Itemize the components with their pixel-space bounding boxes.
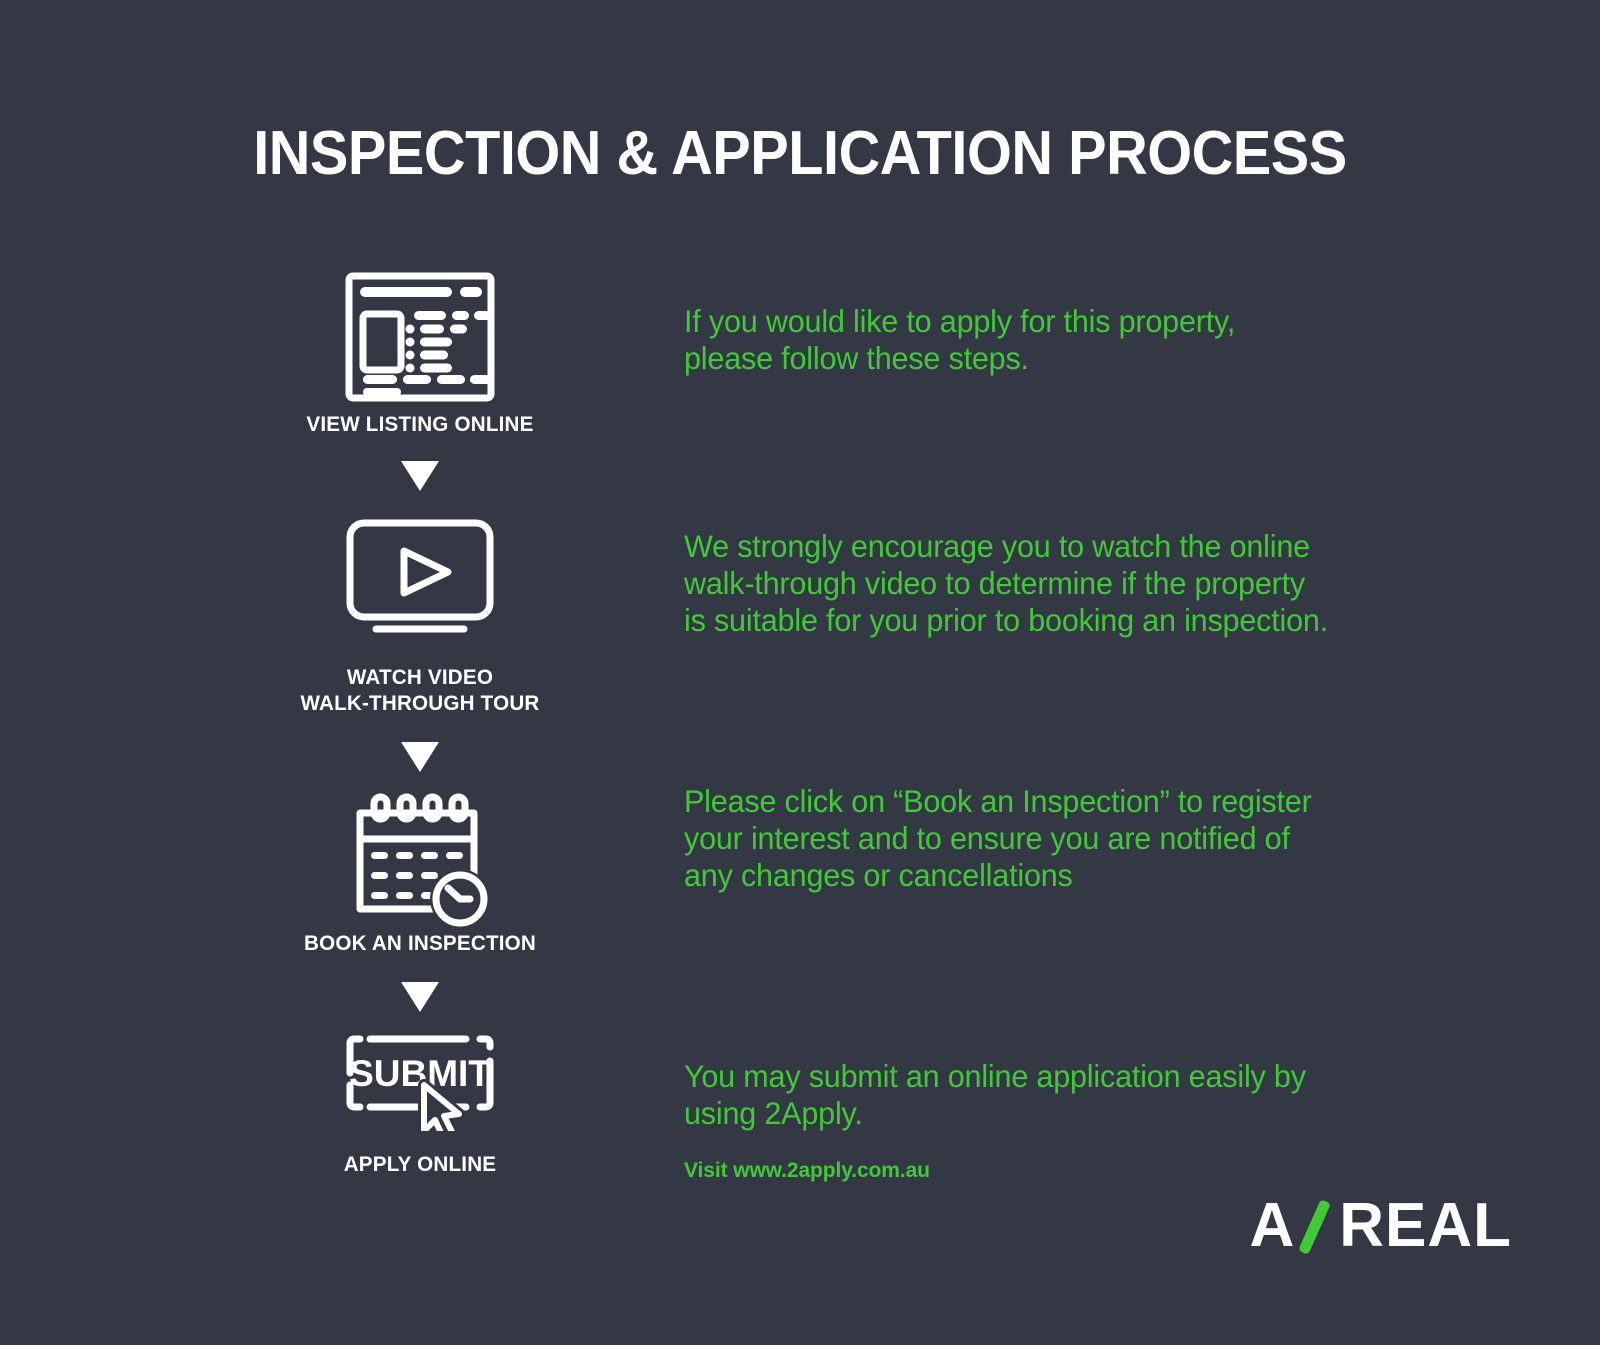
- visit-website-link[interactable]: Visit www.2apply.com.au: [684, 1159, 930, 1183]
- flow-arrow-down-icon: [270, 742, 570, 772]
- step-watch-video-walkthrough: WATCH VIDEO WALK-THROUGH TOUR: [270, 503, 570, 716]
- step-label: VIEW LISTING ONLINE: [276, 412, 564, 437]
- page-title: INSPECTION & APPLICATION PROCESS: [56, 118, 1544, 189]
- infographic-page: INSPECTION & APPLICATION PROCESS: [0, 0, 1600, 1345]
- step-book-an-inspection: BOOK AN INSPECTION: [270, 786, 570, 956]
- steps-flow: VIEW LISTING ONLINE WATCH VIDEO WALK-THR…: [270, 262, 570, 1178]
- copy-video: We strongly encourage you to watch the o…: [684, 528, 1402, 639]
- submit-button-cursor-icon: SUBMIT: [270, 1026, 570, 1134]
- step-label: APPLY ONLINE: [276, 1152, 564, 1177]
- copy-inspection: Please click on “Book an Inspection” to …: [684, 783, 1402, 894]
- flow-arrow-down-icon: [270, 461, 570, 491]
- step-label: WATCH VIDEO WALK-THROUGH TOUR: [276, 665, 564, 716]
- step-label: BOOK AN INSPECTION: [276, 931, 564, 956]
- calendar-clock-icon: [270, 786, 570, 931]
- copy-apply: You may submit an online application eas…: [684, 1058, 1402, 1132]
- listing-window-icon: [270, 262, 570, 412]
- step-view-listing-online: VIEW LISTING ONLINE: [270, 262, 570, 437]
- logo-letter-a: A: [1249, 1195, 1295, 1257]
- step-apply-online: SUBMIT APPLY ONLINE: [270, 1026, 570, 1177]
- logo-slash-icon: [1297, 1197, 1337, 1255]
- video-player-icon: [270, 503, 570, 653]
- areal-logo: A REAL: [1249, 1196, 1512, 1256]
- logo-word-real: REAL: [1339, 1195, 1512, 1257]
- flow-arrow-down-icon: [270, 982, 570, 1012]
- copy-intro: If you would like to apply for this prop…: [684, 303, 1402, 377]
